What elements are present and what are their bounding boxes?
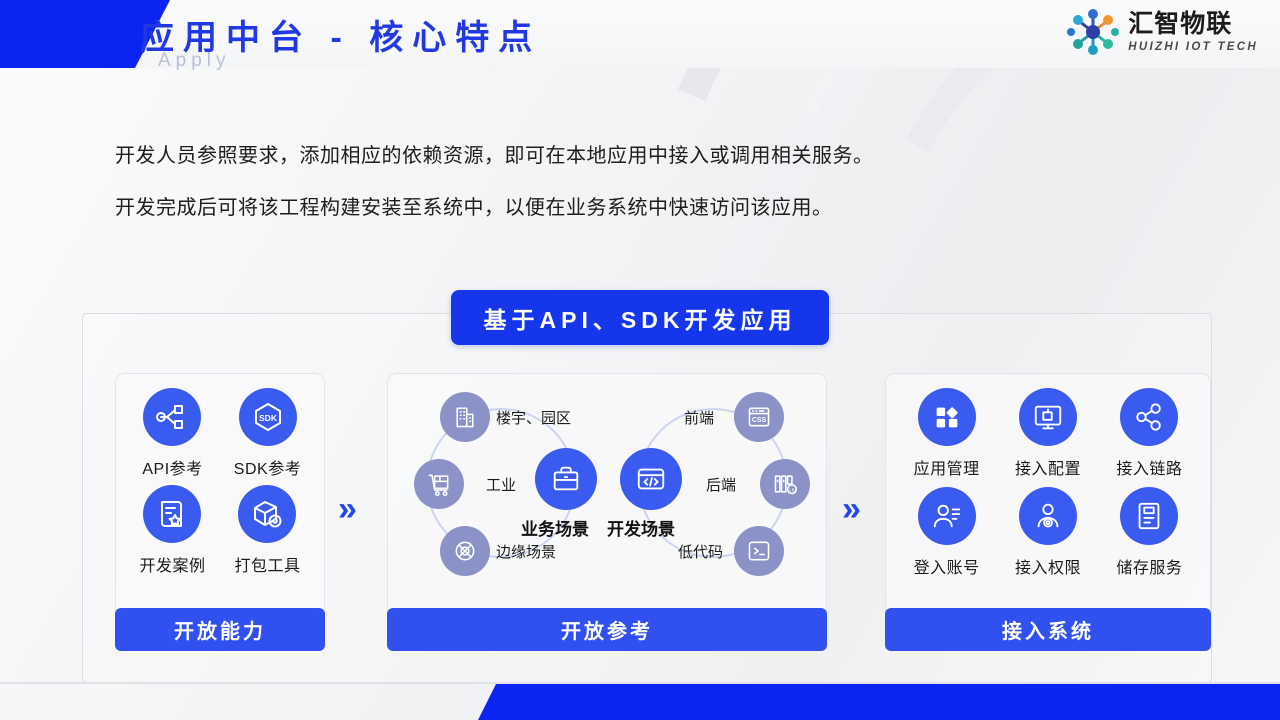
capability-label: 打包工具 xyxy=(234,552,300,576)
cluster-business-scenarios: 楼宇、园区 工业 边缘场景 xyxy=(388,374,608,594)
flow-arrow-left: » xyxy=(338,492,357,526)
molecule-network-icon xyxy=(1066,8,1120,56)
capability-item-pack[interactable]: 打包工具 xyxy=(234,485,300,576)
server-rack-icon[interactable]: LB xyxy=(760,459,810,509)
css-browser-icon[interactable]: CSS xyxy=(734,392,784,442)
capability-label: 开发案例 xyxy=(139,552,205,576)
terminal-icon[interactable] xyxy=(734,526,784,576)
logo-name-en: HUIZHI IOT TECH xyxy=(1128,41,1258,53)
capability-label: SDK参考 xyxy=(234,455,301,479)
capability-label: API参考 xyxy=(142,455,202,479)
briefcase-icon[interactable] xyxy=(535,448,597,510)
access-label: 登入账号 xyxy=(914,554,980,578)
access-label: 接入权限 xyxy=(1015,554,1081,578)
open-capability-button[interactable]: 开放能力 xyxy=(115,608,325,651)
satellite-label: 工业 xyxy=(486,474,516,495)
cluster-development-scenarios: CSS 前端 LB 后端 xyxy=(606,374,826,594)
satellite-label: 后端 xyxy=(706,474,736,495)
logo-name-cn: 汇智物联 xyxy=(1128,11,1232,37)
user-account-icon xyxy=(918,487,976,545)
storage-document-icon xyxy=(1120,487,1178,545)
code-window-icon[interactable] xyxy=(620,448,682,510)
satellite-label: 边缘场景 xyxy=(496,541,556,562)
apps-grid-icon xyxy=(918,388,976,446)
capability-item-api[interactable]: API参考 xyxy=(142,388,202,479)
brand-logo: 汇智物联 HUIZHI IOT TECH xyxy=(1066,8,1258,56)
intro-line-2: 开发完成后可将该工程构建安装至系统中，以便在业务系统中快速访问该应用。 xyxy=(115,191,833,220)
document-star-icon xyxy=(143,485,201,543)
svg-text:CSS: CSS xyxy=(752,417,767,424)
access-item-storage[interactable]: 储存服务 xyxy=(1116,487,1182,578)
access-label: 应用管理 xyxy=(914,455,980,479)
access-label: 接入配置 xyxy=(1015,455,1081,479)
footer-divider xyxy=(0,682,1280,684)
satellite-label: 低代码 xyxy=(678,541,723,562)
intro-line-1: 开发人员参照要求，添加相应的依赖资源，即可在本地应用中接入或调用相关服务。 xyxy=(115,139,874,168)
cluster-hub-label: 开发场景 xyxy=(607,515,675,540)
api-share-icon xyxy=(143,388,201,446)
cluster-hub-label: 业务场景 xyxy=(521,515,589,540)
access-item-app-management[interactable]: 应用管理 xyxy=(914,388,980,479)
edge-node-icon[interactable] xyxy=(440,526,490,576)
cart-box-icon[interactable] xyxy=(414,459,464,509)
access-item-permission[interactable]: 接入权限 xyxy=(1015,487,1081,578)
flow-arrow-right: » xyxy=(842,492,861,526)
page-subtitle: Apply xyxy=(158,50,231,72)
access-item-login[interactable]: 登入账号 xyxy=(914,487,980,578)
package-gear-icon xyxy=(238,485,296,543)
share-nodes-icon xyxy=(1120,388,1178,446)
satellite-label: 前端 xyxy=(684,407,714,428)
capability-item-case[interactable]: 开发案例 xyxy=(139,485,205,576)
sdk-cube-icon: SDK xyxy=(239,388,297,446)
capability-item-sdk[interactable]: SDK SDK参考 xyxy=(234,388,301,479)
access-label: 接入链路 xyxy=(1116,455,1182,479)
access-label: 储存服务 xyxy=(1116,554,1182,578)
svg-text:LB: LB xyxy=(789,487,794,492)
user-permission-icon xyxy=(1019,487,1077,545)
access-item-link[interactable]: 接入链路 xyxy=(1116,388,1182,479)
diagram-banner: 基于API、SDK开发应用 xyxy=(451,290,829,345)
slide-canvas: 应用中台 - 核心特点 Apply 汇智物联 xyxy=(0,0,1280,720)
access-item-config[interactable]: 接入配置 xyxy=(1015,388,1081,479)
svg-text:SDK: SDK xyxy=(259,413,278,423)
satellite-label: 楼宇、园区 xyxy=(496,407,571,428)
monitor-config-icon xyxy=(1019,388,1077,446)
building-icon[interactable] xyxy=(440,392,490,442)
access-system-button[interactable]: 接入系统 xyxy=(885,608,1211,651)
open-reference-button[interactable]: 开放参考 xyxy=(387,608,827,651)
footer-accent-shape xyxy=(0,684,1280,720)
